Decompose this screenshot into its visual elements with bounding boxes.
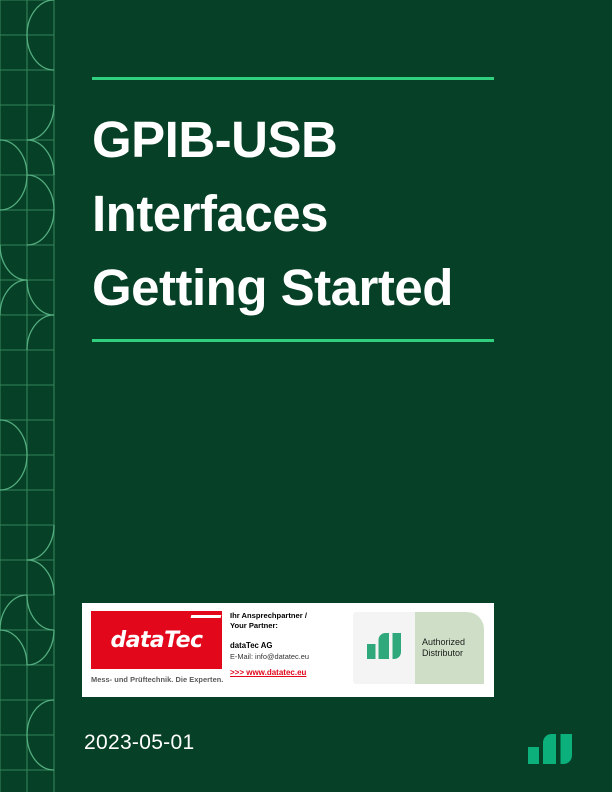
datatec-wordmark-text: dataTec <box>111 628 203 653</box>
ni-badge-label: Authorized Distributor <box>422 637 465 660</box>
title-rule-bottom <box>92 339 494 342</box>
title-rule-top <box>92 77 494 80</box>
partner-heading-line-2: Your Partner: <box>230 621 345 631</box>
datatec-logo-bar <box>191 615 222 618</box>
page-title: GPIB-USB Interfaces Getting Started <box>92 103 512 325</box>
ni-logo-icon <box>528 734 572 764</box>
datatec-logo: dataTec Mess- und Prüftechnik. Die Exper… <box>91 611 222 684</box>
document-cover-page: GPIB-USB Interfaces Getting Started data… <box>0 0 612 792</box>
partner-heading-line-1: Ihr Ansprechpartner / <box>230 611 345 621</box>
datatec-logo-background: dataTec <box>91 611 222 669</box>
partner-email: E-Mail: info@datatec.eu <box>230 651 345 662</box>
title-line-2: Interfaces <box>92 177 512 251</box>
decorative-grid-arc-pattern <box>0 0 70 792</box>
ni-badge-label-line-1: Authorized <box>422 637 465 649</box>
datatec-tagline: Mess- und Prüftechnik. Die Experten. <box>91 675 222 684</box>
ni-authorized-distributor-badge: Authorized Distributor <box>353 612 484 684</box>
title-line-1: GPIB-USB <box>92 103 512 177</box>
partner-website-link[interactable]: >>> www.datatec.eu <box>230 667 306 678</box>
ni-logo-icon <box>367 633 401 664</box>
partner-contact-block: Ihr Ansprechpartner / Your Partner: data… <box>230 611 345 680</box>
partner-info-box: dataTec Mess- und Prüftechnik. Die Exper… <box>82 603 494 697</box>
spacer <box>230 631 345 640</box>
partner-company-name: dataTec AG <box>230 640 345 651</box>
document-date: 2023-05-01 <box>84 731 194 755</box>
title-line-3: Getting Started <box>92 251 512 325</box>
ni-badge-label-line-2: Distributor <box>422 648 465 660</box>
ni-badge-logo-panel <box>353 612 415 684</box>
datatec-wordmark: dataTec <box>91 611 222 669</box>
ni-badge-label-panel: Authorized Distributor <box>415 612 484 684</box>
